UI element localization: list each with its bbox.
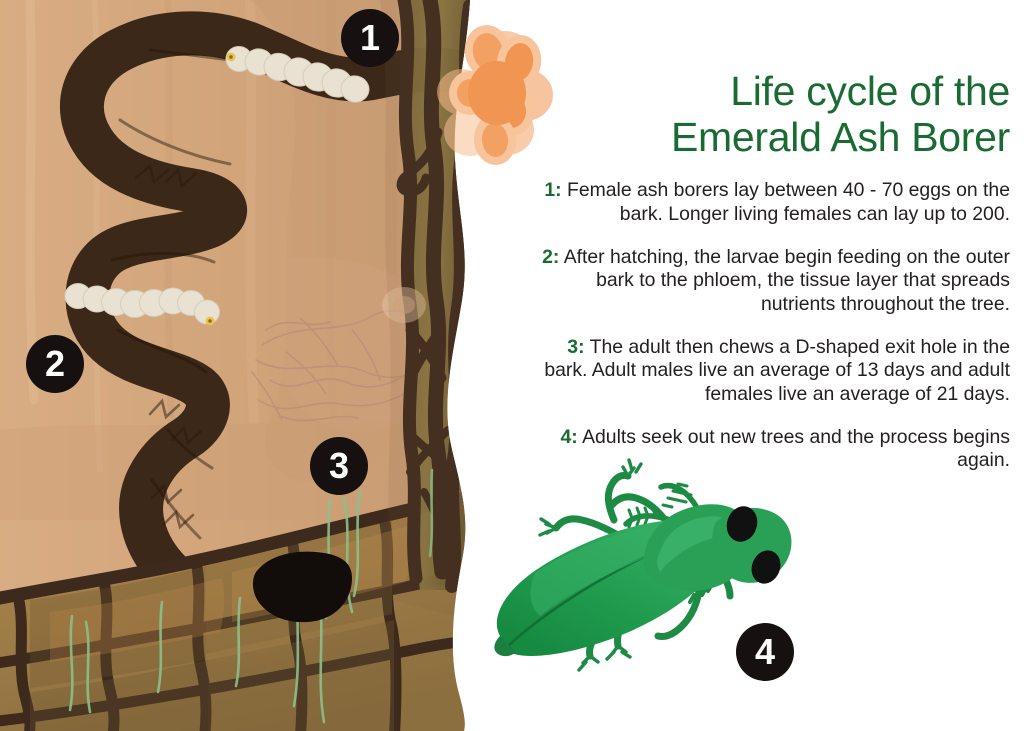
page-title-line1: Life cycle of the <box>540 68 1010 114</box>
step-item-3: 3: The adult then chews a D-shaped exit … <box>540 336 1010 407</box>
page-title-line2: Emerald Ash Borer <box>540 114 1010 160</box>
step-text-3: The adult then chews a D-shaped exit hol… <box>544 336 1010 405</box>
step-item-2: 2: After hatching, the larvae begin feed… <box>540 246 1010 317</box>
step-text-4: Adults seek out new trees and the proces… <box>582 426 1010 472</box>
step-number-3: 3: <box>567 336 584 358</box>
step-text-2: After hatching, the larvae begin feeding… <box>564 246 1010 315</box>
step-badge-2: 2 <box>26 335 84 393</box>
step-number-4: 4: <box>560 426 577 448</box>
infographic-poster: Life cycle of the Emerald Ash Borer 1: F… <box>0 0 1024 731</box>
step-item-4: 4: Adults seek out new trees and the pro… <box>540 426 1010 473</box>
step-number-1: 1: <box>544 179 561 201</box>
step-badge-4: 4 <box>736 623 794 681</box>
step-text-1: Female ash borers lay between 40 - 70 eg… <box>567 179 1010 225</box>
step-badge-3: 3 <box>310 437 368 495</box>
text-panel: Life cycle of the Emerald Ash Borer 1: F… <box>540 68 1010 473</box>
step-item-1: 1: Female ash borers lay between 40 - 70… <box>540 179 1010 226</box>
step-number-2: 2: <box>542 246 559 268</box>
step-badge-1: 1 <box>341 9 399 67</box>
steps-list: 1: Female ash borers lay between 40 - 70… <box>540 179 1010 472</box>
